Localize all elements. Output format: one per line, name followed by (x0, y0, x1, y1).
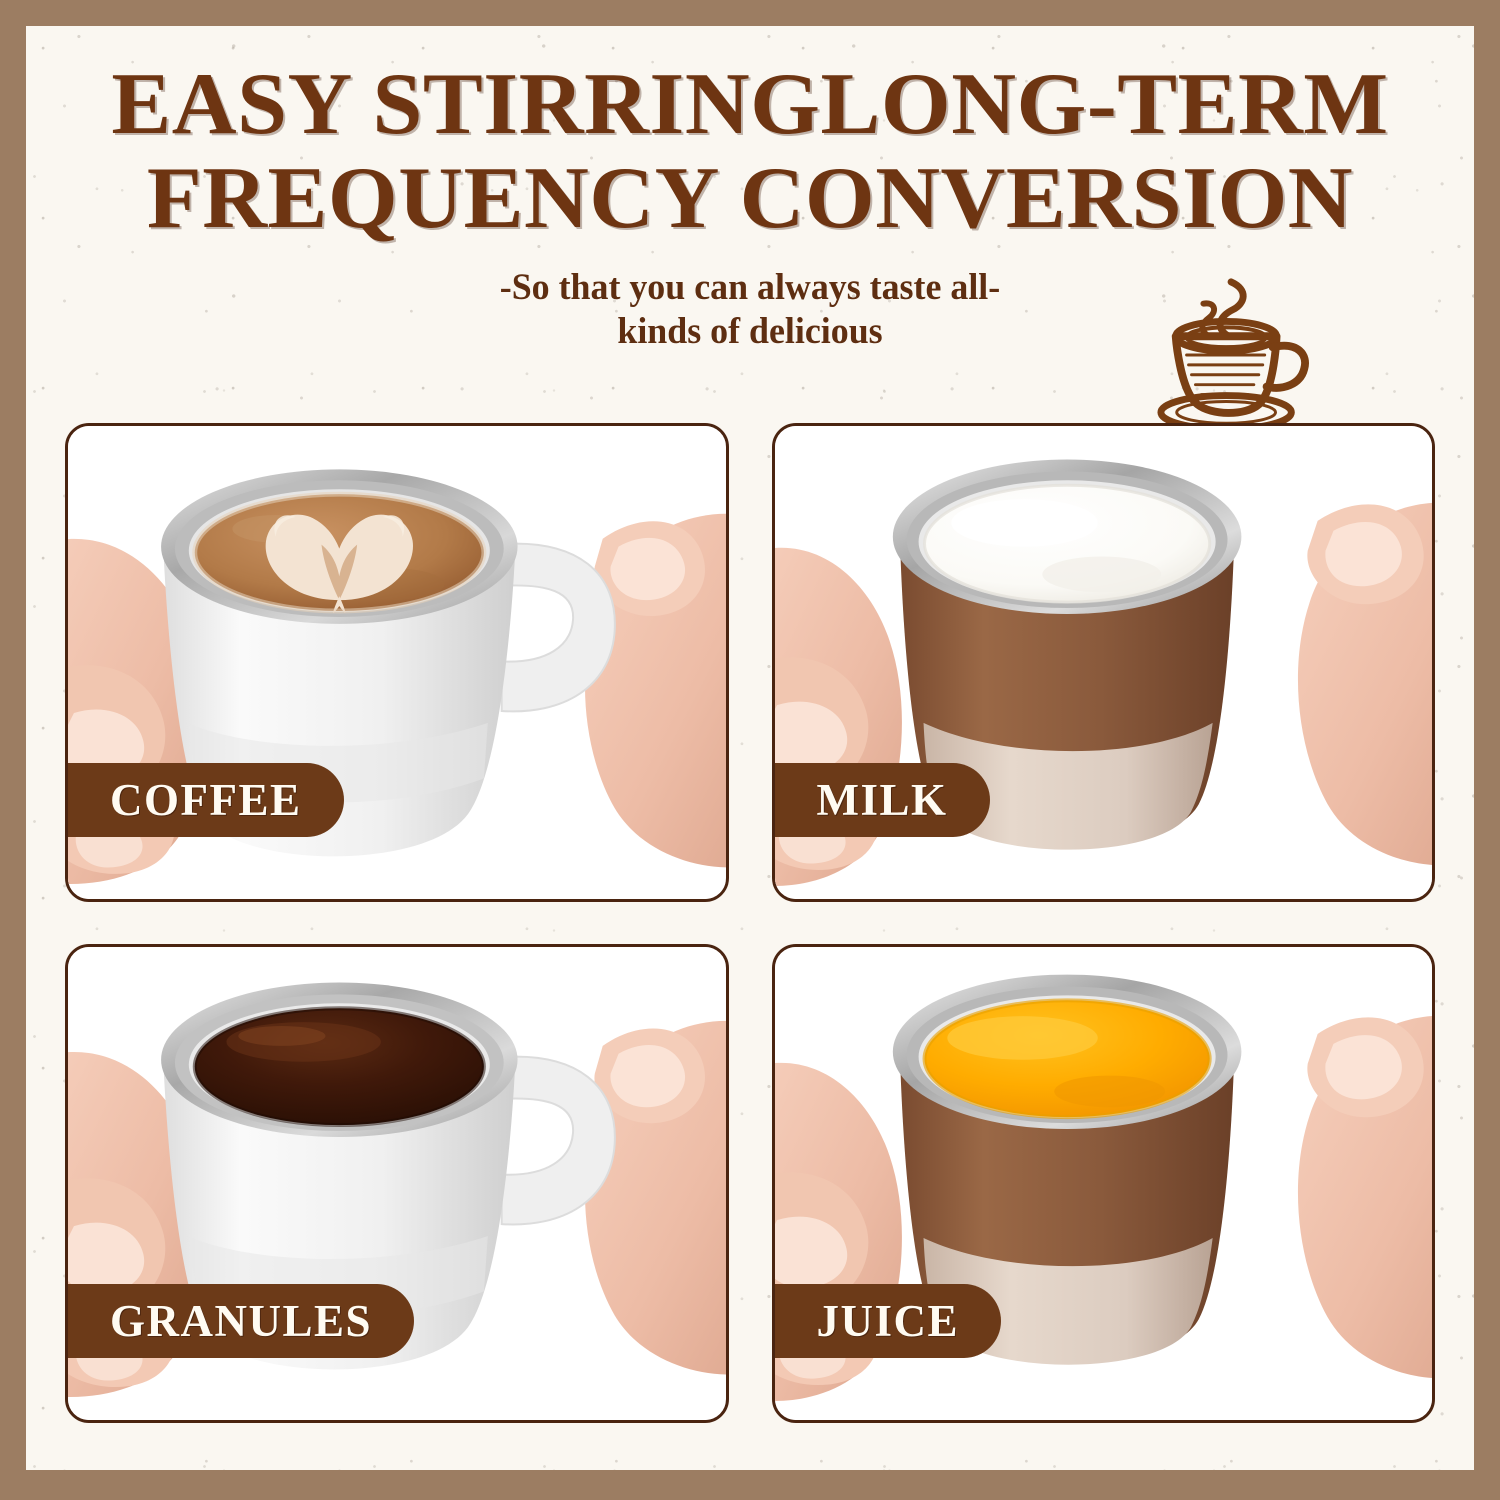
product-usage-grid: COFFEE (65, 423, 1435, 1423)
subtitle: -So that you can always taste all- kinds… (65, 266, 1435, 355)
badge-milk: MILK (772, 763, 990, 837)
title-line-1: EASY STIRRINGLONG-TERM (30, 60, 1470, 150)
banner-canvas: EASY STIRRINGLONG-TERM FREQUENCY CONVERS… (26, 26, 1474, 1470)
banner-frame: EASY STIRRINGLONG-TERM FREQUENCY CONVERS… (0, 0, 1500, 1500)
badge-label: COFFEE (110, 778, 302, 823)
card-milk[interactable]: MILK (772, 423, 1436, 902)
badge-coffee: COFFEE (65, 763, 344, 837)
badge-label: JUICE (817, 1299, 960, 1344)
badge-label: GRANULES (110, 1299, 372, 1344)
badge-juice: JUICE (772, 1284, 1002, 1358)
page-title: EASY STIRRINGLONG-TERM FREQUENCY CONVERS… (30, 60, 1470, 244)
subtitle-line-1: -So that you can always taste all- (65, 266, 1435, 310)
badge-label: MILK (817, 778, 948, 823)
title-line-2: FREQUENCY CONVERSION (30, 154, 1470, 244)
header: EASY STIRRINGLONG-TERM FREQUENCY CONVERS… (26, 26, 1474, 354)
badge-granules: GRANULES (65, 1284, 414, 1358)
card-granules[interactable]: GRANULES (65, 944, 729, 1423)
subtitle-line-2: kinds of delicious (65, 310, 1435, 354)
card-coffee[interactable]: COFFEE (65, 423, 729, 902)
card-juice[interactable]: JUICE (772, 944, 1436, 1423)
